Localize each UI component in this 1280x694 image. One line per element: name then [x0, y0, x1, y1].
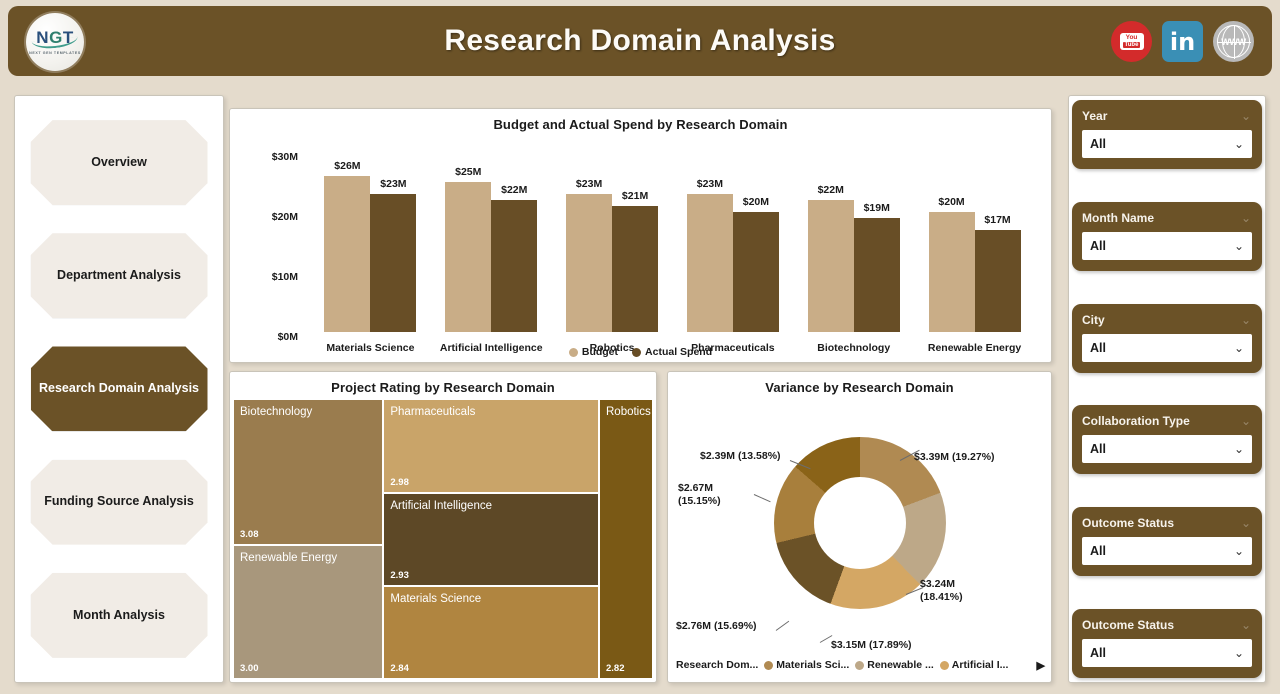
filter-dropdown[interactable]: All⌄ [1082, 232, 1252, 260]
sidebar-nav: OverviewDepartment AnalysisResearch Doma… [14, 95, 224, 683]
website-icon-glyph: WWW [1213, 21, 1254, 62]
treemap-cell-value: 2.93 [390, 570, 409, 581]
budget-actual-bar-chart-panel: Budget and Actual Spend by Research Doma… [229, 108, 1052, 363]
sidebar-item-label: Department Analysis [57, 268, 181, 284]
bar-actual-spend[interactable]: $19M [854, 218, 900, 332]
treemap-title: Project Rating by Research Domain [230, 372, 656, 395]
filter-selected-value: All [1090, 646, 1106, 660]
bar-legend-label: Actual Spend [645, 346, 712, 358]
donut-slice-label: $3.15M (17.89%) [831, 639, 912, 652]
bar-budget[interactable]: $20M [929, 212, 975, 332]
bar-value-label: $23M [697, 178, 723, 190]
bar-budget[interactable]: $23M [566, 194, 612, 332]
project-rating-treemap-panel: Project Rating by Research Domain Biotec… [229, 371, 657, 683]
bar-value-label: $25M [455, 166, 481, 178]
y-axis-tick: $0M [278, 331, 298, 343]
chevron-down-icon: ⌄ [1234, 443, 1244, 455]
filter-card-outcome-status: Outcome Status⌄All⌄ [1072, 609, 1262, 678]
bar-actual-spend[interactable]: $20M [733, 212, 779, 332]
chevron-down-icon[interactable]: ⌄ [1241, 314, 1251, 326]
filter-panel: Year⌄All⌄Month Name⌄All⌄City⌄All⌄Collabo… [1068, 95, 1266, 683]
bar-value-label: $17M [984, 214, 1010, 226]
filter-label: Collaboration Type [1082, 414, 1252, 428]
chevron-down-icon[interactable]: ⌄ [1241, 517, 1251, 529]
bar-chart-bars: $26M$23MMaterials Science$25M$22MArtific… [310, 137, 1035, 362]
filter-label: Month Name [1082, 211, 1252, 225]
bar-actual-spend[interactable]: $17M [975, 230, 1021, 332]
donut-legend-label: Artificial I... [952, 659, 1009, 671]
y-axis-tick: $10M [272, 271, 298, 283]
sidebar-item-label: Research Domain Analysis [39, 381, 199, 397]
filter-dropdown[interactable]: All⌄ [1082, 639, 1252, 667]
bar-value-label: $21M [622, 190, 648, 202]
filter-card-outcome-status: Outcome Status⌄All⌄ [1072, 507, 1262, 576]
chevron-down-icon[interactable]: ⌄ [1241, 415, 1251, 427]
dashboard-page: NGT NEXT GEN TEMPLATES Research Domain A… [0, 0, 1280, 694]
legend-next-arrow-icon[interactable]: ▶ [1037, 659, 1045, 672]
bar-budget[interactable]: $25M [445, 182, 491, 332]
bar-legend-item[interactable]: Actual Spend [632, 346, 712, 358]
treemap-cell-label: Artificial Intelligence [390, 500, 592, 513]
donut-legend-item[interactable]: Artificial I... [940, 659, 1009, 671]
bar-group: $25M$22MArtificial Intelligence [431, 137, 552, 362]
treemap-cell-value: 3.08 [240, 529, 259, 540]
donut-chart-legend: Research Dom...Materials Sci...Renewable… [676, 654, 1045, 676]
filter-label: Outcome Status [1082, 618, 1252, 632]
bar-actual-spend[interactable]: $22M [491, 200, 537, 332]
bar-actual-spend[interactable]: $21M [612, 206, 658, 332]
filter-label: Outcome Status [1082, 516, 1252, 530]
chevron-down-icon: ⌄ [1234, 647, 1244, 659]
chevron-down-icon: ⌄ [1234, 240, 1244, 252]
chevron-down-icon[interactable]: ⌄ [1241, 110, 1251, 122]
filter-card-city: City⌄All⌄ [1072, 304, 1262, 373]
treemap-cell-label: Robotics [606, 406, 646, 419]
page-title: Research Domain Analysis [8, 6, 1272, 76]
bar-value-label: $19M [864, 202, 890, 214]
bar-chart-legend: BudgetActual Spend [230, 346, 1051, 358]
donut-slice-label: $2.76M (15.69%) [676, 620, 757, 633]
filter-dropdown[interactable]: All⌄ [1082, 435, 1252, 463]
donut-leader-line [754, 494, 771, 502]
treemap-cell-label: Materials Science [390, 593, 592, 606]
donut-legend-item[interactable]: Renewable ... [855, 659, 934, 671]
filter-dropdown[interactable]: All⌄ [1082, 130, 1252, 158]
filter-selected-value: All [1090, 239, 1106, 253]
bar-chart-y-axis: $0M$10M$20M$30M [240, 137, 302, 362]
donut-legend-label: Renewable ... [867, 659, 934, 671]
donut-hole [814, 477, 906, 569]
filter-label: City [1082, 313, 1252, 327]
treemap-cell-label: Biotechnology [240, 406, 376, 419]
treemap-column: Pharmaceuticals2.98Artificial Intelligen… [384, 400, 598, 678]
bar-value-label: $23M [380, 178, 406, 190]
youtube-icon[interactable]: You Tube [1111, 21, 1152, 62]
bar-group: $26M$23MMaterials Science [310, 137, 431, 362]
sidebar-item-research-domain-analysis[interactable]: Research Domain Analysis [31, 346, 208, 431]
filter-dropdown[interactable]: All⌄ [1082, 334, 1252, 362]
bar-group: $23M$20MPharmaceuticals [672, 137, 793, 362]
treemap-cell[interactable]: Renewable Energy3.00 [234, 546, 382, 678]
bar-group: $20M$17MRenewable Energy [914, 137, 1035, 362]
treemap-cell[interactable]: Materials Science2.84 [384, 587, 598, 678]
youtube-icon-bottom: Tube [1123, 42, 1141, 48]
legend-dot-icon [855, 661, 864, 670]
linkedin-icon[interactable]: in [1162, 21, 1203, 62]
filter-selected-value: All [1090, 544, 1106, 558]
donut-legend-item[interactable]: Materials Sci... [764, 659, 849, 671]
donut-slice-label: $3.24M(18.41%) [920, 578, 963, 604]
treemap-cell-value: 2.98 [390, 477, 409, 488]
legend-dot-icon [940, 661, 949, 670]
bar-chart-title: Budget and Actual Spend by Research Doma… [230, 109, 1051, 132]
chevron-down-icon: ⌄ [1234, 545, 1244, 557]
social-links: You Tube in WWW [1111, 21, 1254, 62]
bar-group: $22M$19MBiotechnology [793, 137, 914, 362]
filter-selected-value: All [1090, 137, 1106, 151]
sidebar-item-label: Funding Source Analysis [44, 494, 194, 510]
donut-slice-label: $3.39M (19.27%) [914, 451, 995, 464]
sidebar-item-overview[interactable]: Overview [31, 120, 208, 205]
filter-selected-value: All [1090, 442, 1106, 456]
linkedin-icon-glyph: in [1170, 30, 1195, 54]
legend-dot-icon [569, 348, 578, 357]
chevron-down-icon[interactable]: ⌄ [1241, 212, 1251, 224]
bar-value-label: $20M [938, 196, 964, 208]
bar-actual-spend[interactable]: $23M [370, 194, 416, 332]
bar-value-label: $20M [743, 196, 769, 208]
donut-chart-area: $3.39M (19.27%)$3.24M(18.41%)$3.15M (17.… [668, 398, 1051, 648]
y-axis-tick: $20M [272, 211, 298, 223]
treemap-cell-value: 2.84 [390, 663, 409, 674]
bar-legend-item[interactable]: Budget [569, 346, 618, 358]
sidebar-item-funding-source-analysis[interactable]: Funding Source Analysis [31, 460, 208, 545]
chevron-down-icon: ⌄ [1234, 138, 1244, 150]
filter-card-collaboration-type: Collaboration Type⌄All⌄ [1072, 405, 1262, 474]
treemap-cell[interactable]: Robotics2.82 [600, 400, 652, 678]
youtube-icon-top: You [1126, 35, 1138, 42]
donut-legend-label: Materials Sci... [776, 659, 849, 671]
page-header: NGT NEXT GEN TEMPLATES Research Domain A… [8, 6, 1272, 76]
treemap-area: Biotechnology3.08Renewable Energy3.00Pha… [234, 400, 652, 678]
bar-budget[interactable]: $26M [324, 176, 370, 332]
chevron-down-icon[interactable]: ⌄ [1241, 619, 1251, 631]
treemap-cell[interactable]: Pharmaceuticals2.98 [384, 400, 598, 492]
treemap-cell[interactable]: Artificial Intelligence2.93 [384, 494, 598, 584]
treemap-cell-value: 3.00 [240, 663, 259, 674]
donut-slice-label: $2.67M(15.15%) [678, 482, 721, 508]
filter-card-year: Year⌄All⌄ [1072, 100, 1262, 169]
legend-dot-icon [632, 348, 641, 357]
bar-chart-plot: $0M$10M$20M$30M $26M$23MMaterials Scienc… [230, 137, 1051, 362]
filter-dropdown[interactable]: All⌄ [1082, 537, 1252, 565]
treemap-cell-label: Renewable Energy [240, 552, 376, 565]
treemap-cell-label: Pharmaceuticals [390, 406, 592, 419]
bar-value-label: $23M [576, 178, 602, 190]
bar-legend-label: Budget [582, 346, 618, 358]
chevron-down-icon: ⌄ [1234, 342, 1244, 354]
sidebar-item-department-analysis[interactable]: Department Analysis [31, 233, 208, 318]
bar-group: $23M$21MRobotics [552, 137, 673, 362]
bar-value-label: $22M [818, 184, 844, 196]
sidebar-item-label: Overview [91, 155, 147, 171]
donut-slice-label: $2.39M (13.58%) [700, 450, 781, 463]
treemap-column: Robotics2.82 [600, 400, 652, 678]
bar-value-label: $26M [334, 160, 360, 172]
sidebar-item-label: Month Analysis [73, 608, 165, 624]
filter-label: Year [1082, 109, 1252, 123]
bar-budget[interactable]: $22M [808, 200, 854, 332]
y-axis-tick: $30M [272, 151, 298, 163]
bar-budget[interactable]: $23M [687, 194, 733, 332]
donut-leader-line [776, 621, 790, 631]
donut-chart-title: Variance by Research Domain [668, 372, 1051, 395]
bar-value-label: $22M [501, 184, 527, 196]
website-icon[interactable]: WWW [1213, 21, 1254, 62]
sidebar-item-month-analysis[interactable]: Month Analysis [31, 573, 208, 658]
variance-donut-chart-panel: Variance by Research Domain $3.39M (19.2… [667, 371, 1052, 683]
filter-selected-value: All [1090, 341, 1106, 355]
treemap-column: Biotechnology3.08Renewable Energy3.00 [234, 400, 382, 678]
treemap-cell[interactable]: Biotechnology3.08 [234, 400, 382, 544]
legend-dot-icon [764, 661, 773, 670]
treemap-cell-value: 2.82 [606, 663, 625, 674]
donut-legend-title: Research Dom... [676, 659, 758, 671]
filter-card-month-name: Month Name⌄All⌄ [1072, 202, 1262, 271]
